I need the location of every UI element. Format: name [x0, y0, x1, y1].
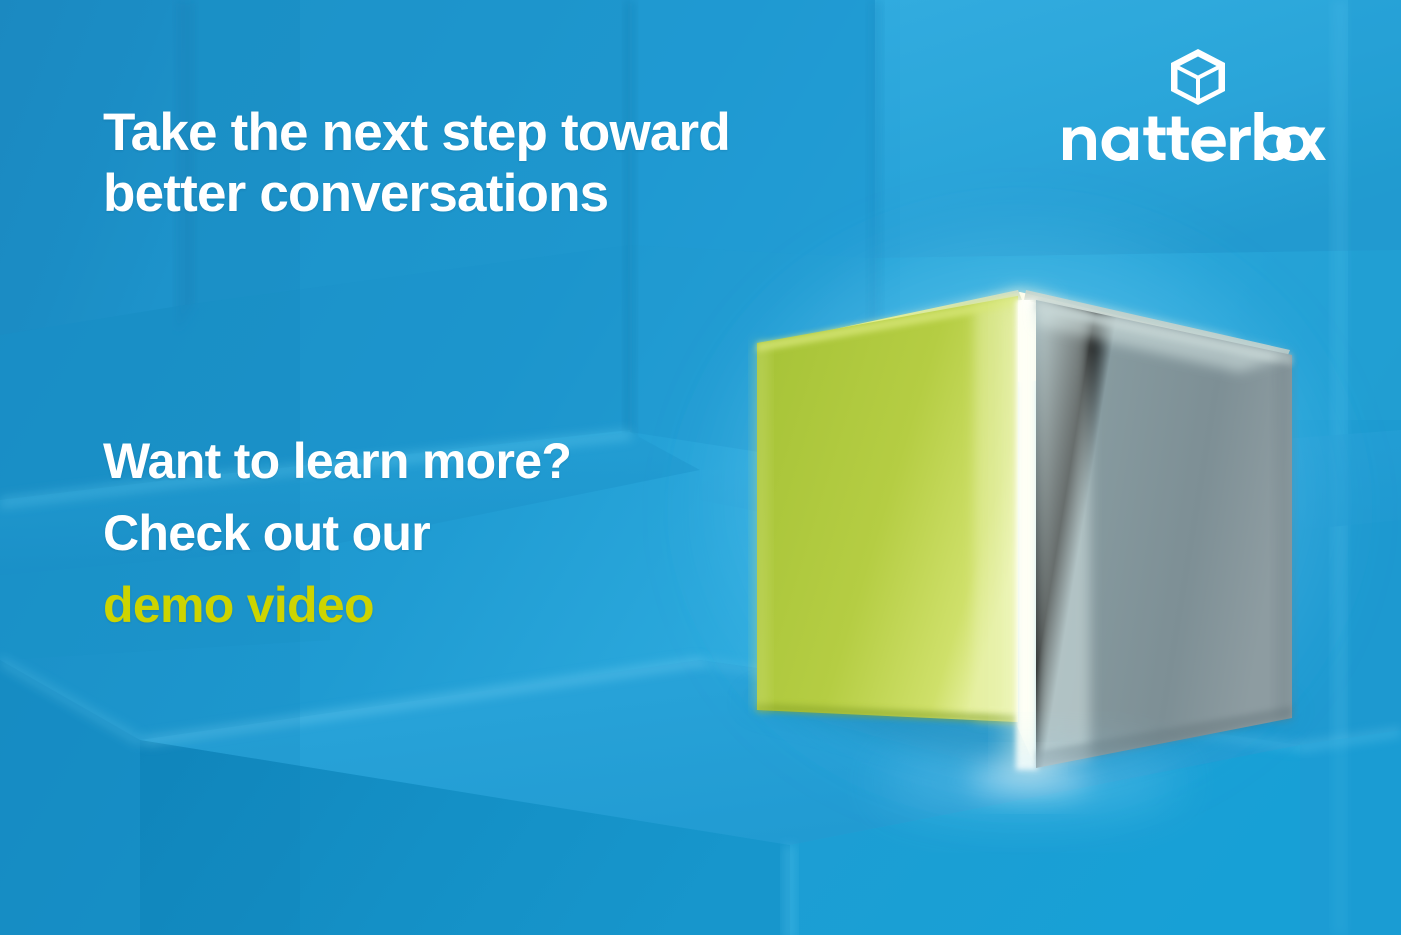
headline-line-2: better conversations — [103, 163, 883, 224]
cta-line-1: Want to learn more? — [103, 425, 803, 497]
cta-line-2: Check out our — [103, 497, 803, 569]
natterbox-wordmark — [1061, 110, 1329, 162]
cube-box-icon — [1170, 48, 1226, 106]
demo-video-link[interactable]: demo video — [103, 569, 803, 641]
natterbox-logo[interactable] — [1061, 48, 1329, 162]
promo-slide: Take the next step toward better convers… — [0, 0, 1401, 935]
headline-line-1: Take the next step toward — [103, 102, 883, 163]
cta-text-block: Want to learn more? Check out our demo v… — [103, 425, 803, 641]
headline: Take the next step toward better convers… — [103, 102, 883, 225]
